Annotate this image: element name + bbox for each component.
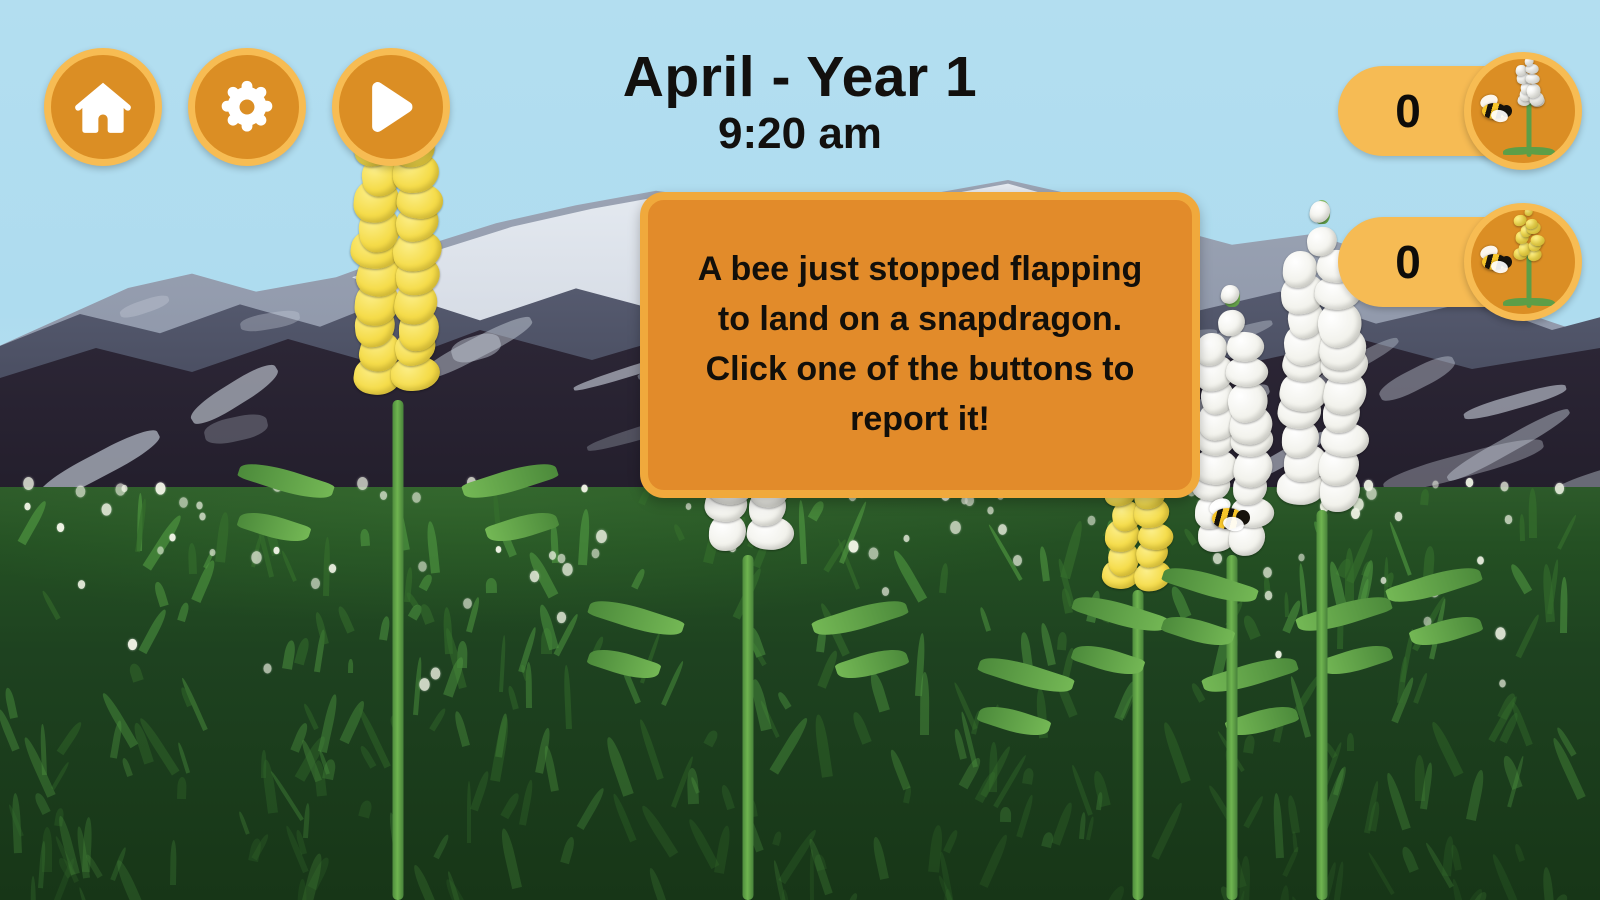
- mini-spike-white: [1516, 52, 1543, 117]
- white-count-value: 0: [1395, 84, 1421, 138]
- home-icon: [72, 76, 134, 138]
- snapdragon-floret: [1530, 234, 1545, 247]
- report-white-snapdragon-button[interactable]: [1464, 52, 1582, 170]
- snapdragon-floret: [1524, 52, 1531, 54]
- yellow-snapdragon-counter: 0: [1338, 203, 1586, 321]
- snapdragon-floret: [1528, 203, 1535, 207]
- message-panel: A bee just stopped flapping to land on a…: [640, 192, 1200, 498]
- snapdragon-floret: [1524, 208, 1533, 217]
- gear-icon: [216, 76, 278, 138]
- mini-bee-yellow: [1478, 250, 1514, 274]
- mini-bee-white: [1478, 99, 1514, 123]
- counter-panel: 0 0: [1338, 52, 1586, 321]
- hud-overlay: April - Year 1 9:20 am 0: [0, 0, 1600, 900]
- toolbar: [44, 48, 450, 166]
- home-button[interactable]: [44, 48, 162, 166]
- settings-button[interactable]: [188, 48, 306, 166]
- snapdragon-floret: [1515, 65, 1526, 77]
- message-text: A bee just stopped flapping to land on a…: [682, 245, 1158, 445]
- yellow-count-value: 0: [1395, 235, 1421, 289]
- mini-spike-yellow: [1516, 203, 1543, 268]
- play-icon: [360, 76, 422, 138]
- play-button[interactable]: [332, 48, 450, 166]
- report-yellow-snapdragon-button[interactable]: [1464, 203, 1582, 321]
- white-snapdragon-counter: 0: [1338, 52, 1586, 170]
